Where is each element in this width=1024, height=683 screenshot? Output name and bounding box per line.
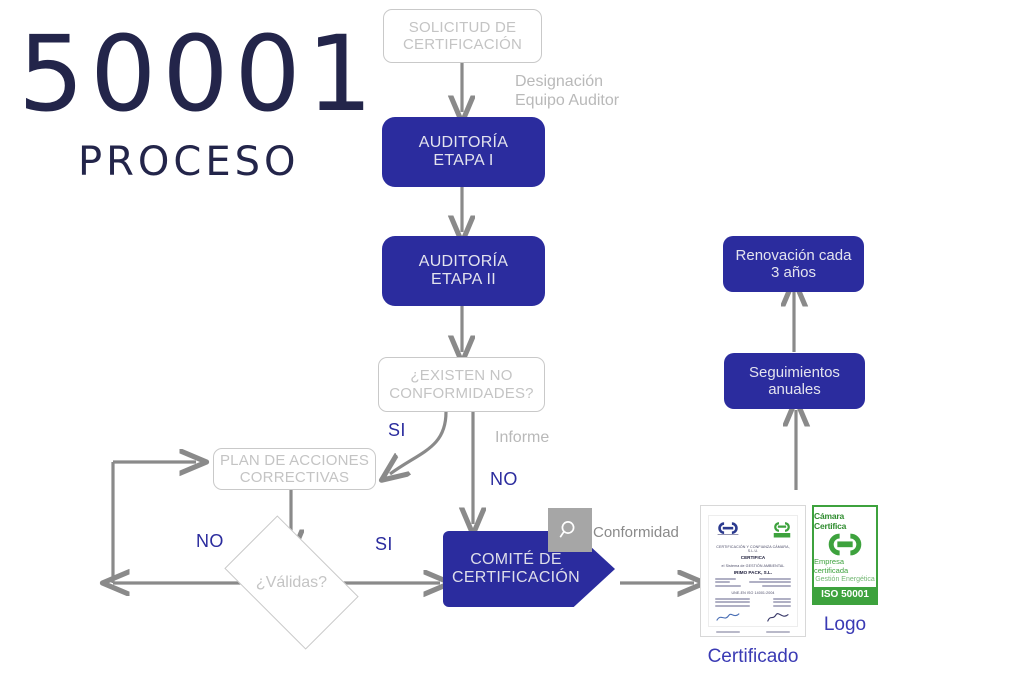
- certificate-company: IRIMO PACK, S.L.: [715, 570, 791, 575]
- node-validas-decision[interactable]: ¿Válidas?: [234, 545, 349, 620]
- node-auditoria-2-label: AUDITORÍA ETAPA II: [419, 253, 509, 290]
- edge-label-no-validas: NO: [196, 531, 224, 553]
- node-auditoria-1-label: AUDITORÍA ETAPA I: [419, 134, 509, 171]
- node-seguimientos-anuales[interactable]: Seguimientos anuales: [724, 353, 865, 409]
- certificate-signatures: [715, 611, 791, 635]
- signature-left-icon: [715, 611, 741, 623]
- flowchart-canvas: 50001 PROCESO SOLICITUD DE CERTIFICACIÓN…: [0, 0, 1024, 683]
- camara-certifica-cc-icon: [822, 533, 868, 556]
- certificate-header: [715, 521, 791, 541]
- iso-50001-badge[interactable]: Cámara Certifica Empresa certificada Ges…: [812, 505, 878, 605]
- edge-label-si-validas: SI: [375, 534, 393, 556]
- badge-line1: Empresa certificada: [814, 557, 876, 575]
- node-no-conformidades-label: ¿EXISTEN NO CONFORMIDADES?: [389, 367, 533, 402]
- certificate-fields: [715, 598, 791, 607]
- iso-green-logo-icon: [773, 521, 791, 541]
- edge-label-designacion: Designación Equipo Auditor: [515, 72, 619, 110]
- certificate-body: CERTIFICACIÓN Y CONFIANZA CÁMARA, S.L.U.…: [708, 515, 798, 627]
- page-title-number: 50001: [18, 22, 379, 126]
- node-auditoria-etapa-1[interactable]: AUDITORÍA ETAPA I: [382, 117, 545, 187]
- badge-standard: ISO 50001: [814, 587, 876, 603]
- node-renovacion-label: Renovación cada 3 años: [736, 247, 852, 282]
- magnifier-glyph: [558, 518, 582, 542]
- node-auditoria-etapa-2[interactable]: AUDITORÍA ETAPA II: [382, 236, 545, 306]
- camara-logo-icon: [715, 521, 741, 535]
- certificate-scope: el Sistema de GESTIÓN AMBIENTAL: [715, 564, 791, 568]
- certificate-verb: CERTIFICA: [715, 555, 791, 560]
- signature-right-icon: [765, 611, 791, 623]
- certificate-detail-lines: [715, 578, 791, 587]
- edge-label-informe: Informe: [495, 428, 549, 447]
- node-validas-label: ¿Válidas?: [256, 574, 327, 592]
- node-seguimientos-label: Seguimientos anuales: [749, 364, 840, 399]
- certificate-standard: UNE-EN ISO 14001:2004: [715, 591, 791, 595]
- node-plan-acciones-correctivas[interactable]: PLAN DE ACCIONES CORRECTIVAS: [213, 448, 376, 490]
- node-comite-label: COMITÉ DE CERTIFICACIÓN: [452, 551, 580, 588]
- badge-title: Cámara Certifica: [814, 511, 876, 531]
- caption-logo: Logo: [800, 614, 890, 636]
- node-solicitud-label: SOLICITUD DE CERTIFICACIÓN: [403, 19, 522, 54]
- edge-label-si-conformidades: SI: [388, 420, 406, 442]
- node-plan-acciones-label: PLAN DE ACCIONES CORRECTIVAS: [220, 452, 369, 487]
- edge-label-no-conformidades: NO: [490, 469, 518, 491]
- node-existen-no-conformidades[interactable]: ¿EXISTEN NO CONFORMIDADES?: [378, 357, 545, 412]
- edge-label-conformidad: Conformidad: [593, 524, 679, 542]
- search-icon[interactable]: [548, 508, 592, 552]
- certificate-thumbnail[interactable]: CERTIFICACIÓN Y CONFIANZA CÁMARA, S.L.U.…: [700, 505, 806, 637]
- node-solicitud-certificacion[interactable]: SOLICITUD DE CERTIFICACIÓN: [383, 9, 542, 63]
- caption-certificado: Certificado: [700, 646, 806, 668]
- page-title-subtitle: PROCESO: [78, 142, 299, 182]
- badge-line2: Gestión Energética: [815, 576, 875, 583]
- node-renovacion-3-anos[interactable]: Renovación cada 3 años: [723, 236, 864, 292]
- certificate-issuer: CERTIFICACIÓN Y CONFIANZA CÁMARA, S.L.U.: [715, 545, 791, 553]
